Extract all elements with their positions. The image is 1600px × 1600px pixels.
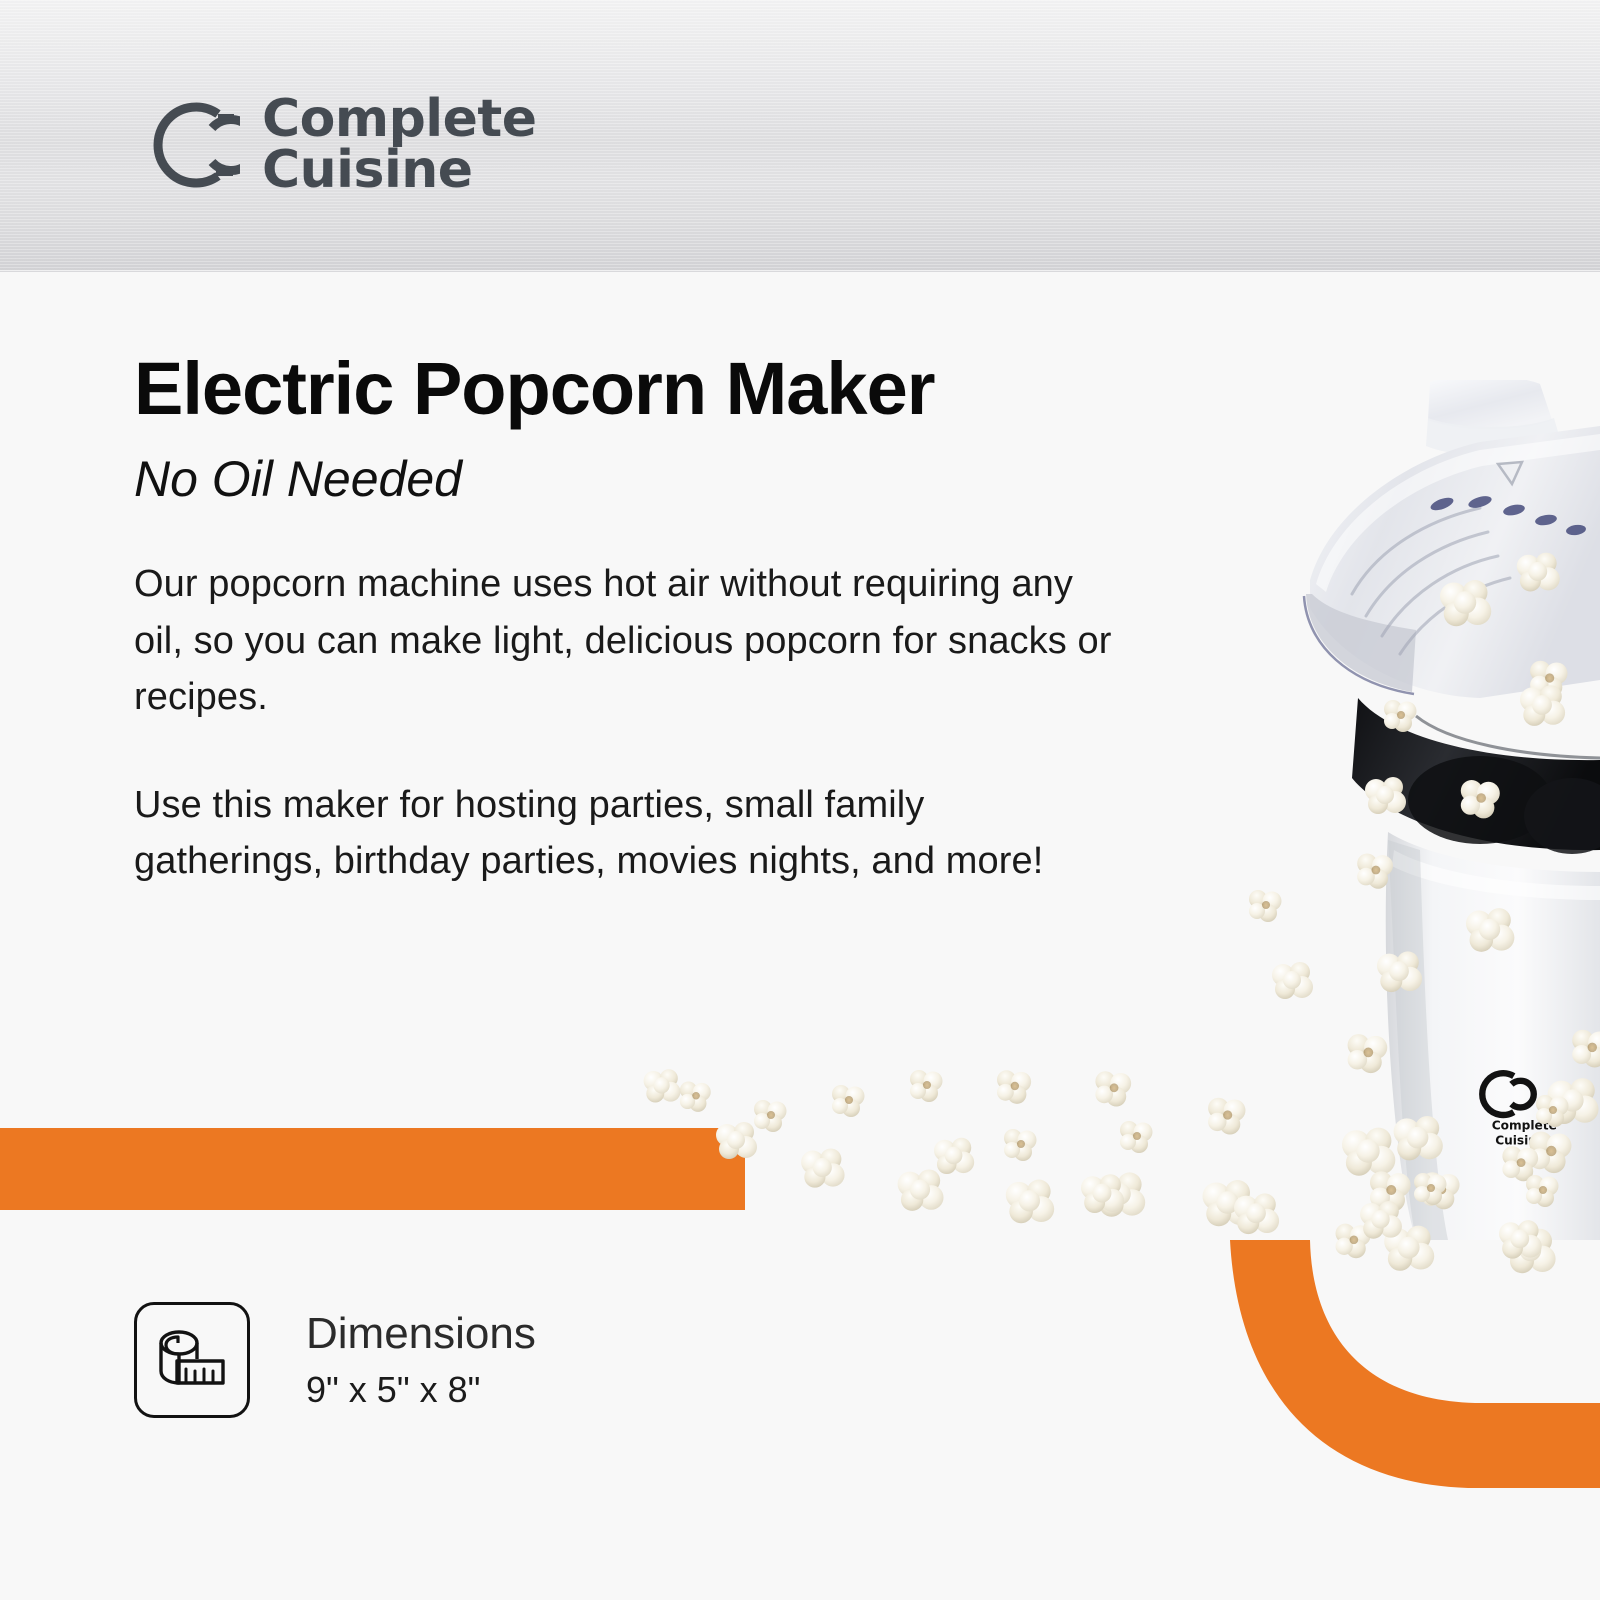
brand-name-line2: Cuisine (262, 145, 537, 196)
product-infographic: Complete Cuisine (0, 0, 1600, 1600)
dimensions-spec: Dimensions 9" x 5" x 8" (134, 1302, 536, 1418)
page-title: Electric Popcorn Maker (134, 350, 1134, 428)
description-paragraph-1: Our popcorn machine uses hot air without… (134, 556, 1119, 725)
accent-bar-left (0, 1128, 745, 1210)
dimensions-text: Dimensions 9" x 5" x 8" (306, 1310, 536, 1410)
product-copy: Electric Popcorn Maker No Oil Needed Our… (134, 350, 1134, 890)
dimensions-value: 9" x 5" x 8" (306, 1370, 536, 1410)
measuring-tape-icon (155, 1327, 229, 1393)
page-subtitle: No Oil Needed (134, 450, 1134, 508)
dimensions-icon-box (134, 1302, 250, 1418)
brand-name-line1: Complete (262, 94, 537, 145)
dimensions-label: Dimensions (306, 1310, 536, 1358)
brand-logo: Complete Cuisine (134, 92, 537, 198)
description-paragraph-2: Use this maker for hosting parties, smal… (134, 777, 1119, 889)
brand-wordmark: Complete Cuisine (262, 94, 537, 197)
double-arc-c-icon (134, 92, 240, 198)
